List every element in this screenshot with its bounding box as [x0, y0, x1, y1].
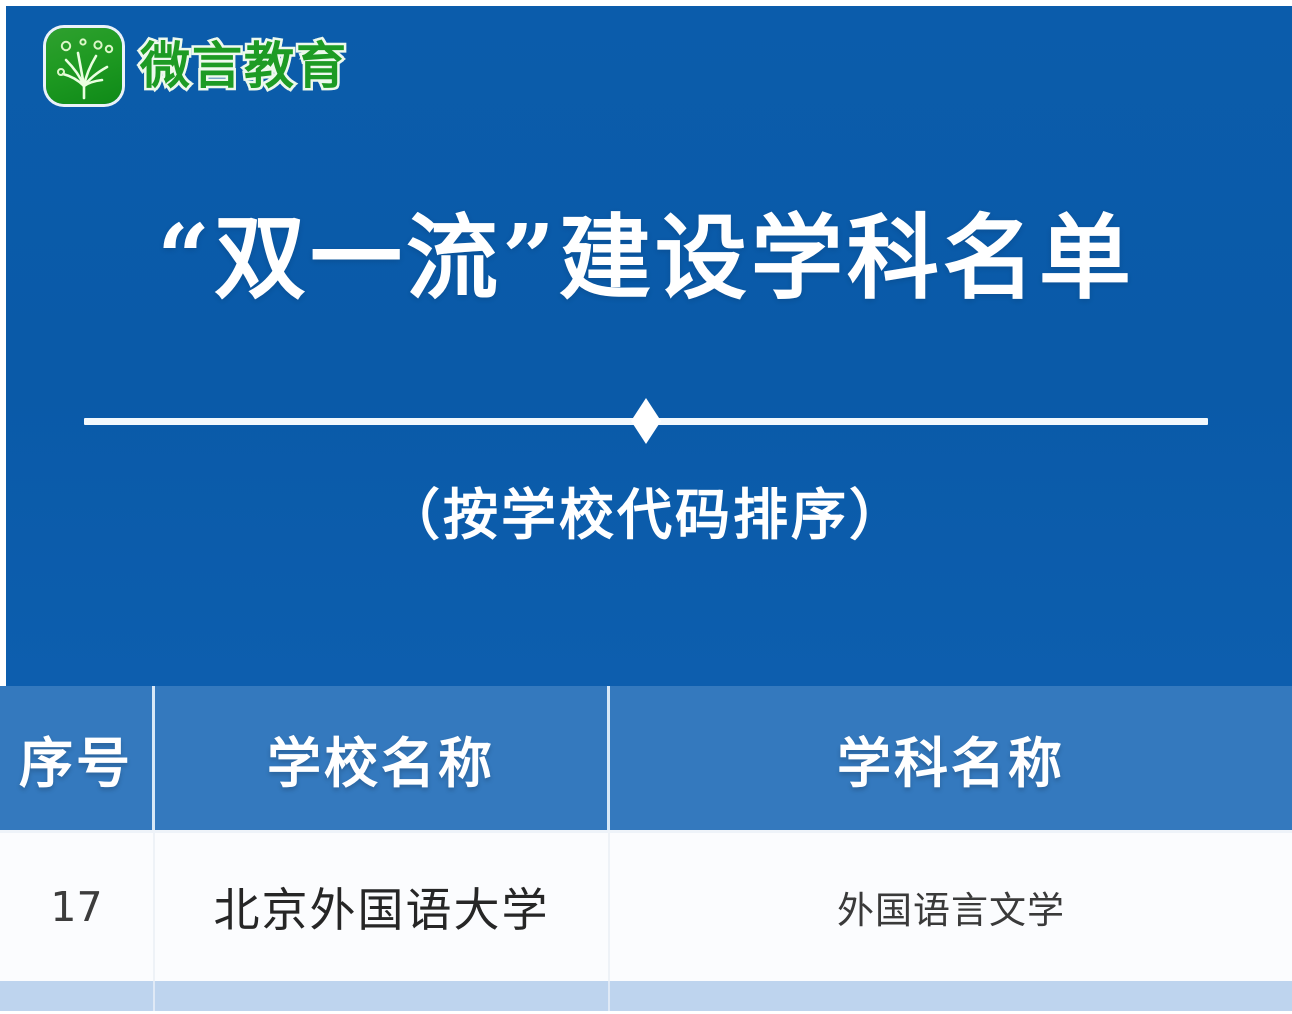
table-header-row: 序号 学校名称 学科名称 [0, 686, 1292, 833]
table-row: 17 北京外国语大学 外国语言文学 [0, 833, 1292, 981]
poster-screen: 微言教育 “双一流”建设学科名单 （按学校代码排序） 序号 学校名称 学科名称 … [0, 0, 1292, 1014]
divider-diamond [631, 398, 661, 444]
cell-no-partial [0, 981, 155, 1011]
brand-name: 微言教育 [140, 41, 348, 91]
cell-school-partial [155, 981, 610, 1011]
discipline-table: 序号 学校名称 学科名称 17 北京外国语大学 外国语言文学 [0, 686, 1292, 1014]
cell-subject-partial [610, 981, 1292, 1011]
hero-banner: 微言教育 “双一流”建设学科名单 （按学校代码排序） [0, 6, 1292, 686]
brand-header: 微言教育 [46, 28, 348, 104]
dandelion-icon [46, 28, 122, 104]
table-row-partial [0, 981, 1292, 1011]
cell-no: 17 [0, 833, 155, 981]
column-header-subject: 学科名称 [610, 686, 1292, 830]
page-subtitle: （按学校代码排序） [0, 470, 1292, 550]
diamond-divider-icon [84, 398, 1208, 444]
cell-school: 北京外国语大学 [155, 833, 610, 981]
page-title: “双一流”建设学科名单 [0, 202, 1292, 314]
column-header-no: 序号 [0, 686, 155, 830]
column-header-school: 学校名称 [155, 686, 610, 830]
cell-subject: 外国语言文学 [610, 833, 1292, 981]
